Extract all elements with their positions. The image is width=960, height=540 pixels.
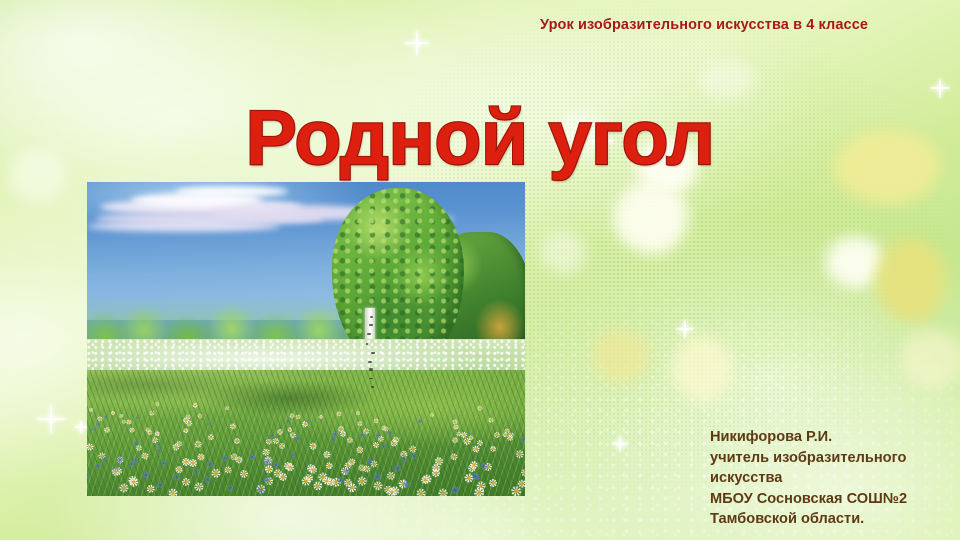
painting-cornflower — [96, 422, 100, 426]
painting-cornflower — [206, 460, 214, 468]
painting-wildflowers — [87, 182, 525, 496]
painting-daisy — [119, 483, 129, 493]
author-credits: Никифорова Р.И. учитель изобразительного… — [710, 427, 954, 530]
lesson-subtitle: Урок изобразительного искусства в 4 клас… — [540, 17, 940, 33]
painting-cornflower — [286, 419, 290, 423]
painting-bark-mark — [369, 368, 373, 370]
painting-cornflower — [387, 431, 393, 437]
painting-cornflower — [192, 468, 200, 476]
painting-cornflower — [160, 459, 168, 467]
painting-daisy — [520, 468, 525, 477]
painting-daisy — [233, 437, 241, 445]
painting-bark-mark — [368, 361, 372, 363]
painting-daisy — [338, 430, 347, 439]
bokeh-blob — [700, 60, 756, 100]
painting-daisy — [355, 446, 364, 455]
painting-daisy — [126, 418, 133, 425]
painting-daisy — [325, 462, 333, 470]
painting-daisy — [87, 443, 94, 452]
painting-cornflower — [289, 451, 296, 458]
painting-daisy — [110, 410, 115, 415]
bokeh-blob — [826, 236, 884, 288]
sparkle-icon — [676, 320, 694, 338]
painting-daisy — [416, 487, 427, 496]
painting-cornflower — [204, 476, 212, 484]
painting-bark-mark — [366, 343, 368, 345]
painting-daisy — [196, 412, 203, 419]
painting-cornflower — [101, 455, 109, 463]
painting-daisy — [313, 480, 323, 490]
painting-cornflower — [471, 473, 478, 480]
painting-daisy — [452, 424, 459, 431]
painting-cornflower — [94, 461, 103, 470]
painting-daisy — [129, 478, 139, 488]
painting-cornflower — [155, 448, 162, 455]
painting-daisy — [346, 436, 354, 444]
painting-daisy — [356, 475, 368, 487]
author-line: Тамбовской области. — [710, 509, 954, 530]
painting-daisy — [373, 418, 379, 424]
painting-daisy — [489, 446, 497, 454]
painting-daisy — [207, 433, 215, 441]
painting-cornflower — [295, 435, 301, 441]
painting-bark-mark — [370, 316, 373, 319]
painting-daisy — [193, 440, 202, 449]
painting-cornflower — [135, 416, 139, 420]
painting-daisy — [185, 419, 193, 427]
painting-cornflower — [411, 453, 417, 459]
painting-daisy — [103, 426, 111, 434]
bokeh-blob — [876, 238, 946, 322]
painting-cornflower — [272, 461, 280, 469]
painting-daisy — [210, 467, 222, 479]
painting-daisy — [356, 410, 361, 415]
painting-cornflower — [402, 481, 410, 489]
painting-daisy — [372, 480, 384, 492]
painting-cornflower — [90, 426, 95, 431]
painting-daisy — [437, 487, 449, 496]
painting-daisy — [225, 405, 230, 410]
painting-daisy — [477, 404, 484, 411]
painting-cornflower — [418, 419, 422, 423]
painting-daisy — [336, 411, 342, 417]
painting-cornflower — [401, 455, 408, 462]
painting-daisy — [141, 453, 149, 461]
painting-bark-mark — [371, 352, 374, 354]
bokeh-blob — [592, 330, 650, 382]
painting-cornflower — [450, 485, 460, 495]
painting-daisy — [192, 402, 198, 408]
painting-daisy — [489, 417, 494, 422]
painting-daisy — [265, 438, 273, 446]
painting-cornflower — [87, 472, 91, 479]
author-line: Никифорова Р.И. — [710, 427, 954, 448]
painting-daisy — [308, 441, 317, 450]
painting-daisy — [183, 427, 189, 433]
painting-daisy — [149, 410, 155, 416]
painting-cornflower — [329, 437, 337, 445]
painting-cornflower — [207, 422, 211, 426]
painting-daisy — [193, 481, 205, 493]
painting-daisy — [451, 436, 459, 444]
painting-daisy — [362, 465, 371, 474]
painting-daisy — [89, 408, 93, 412]
sparkle-icon — [612, 436, 628, 452]
painting-daisy — [419, 475, 430, 486]
painting-daisy — [372, 441, 380, 449]
painting-daisy — [276, 428, 284, 436]
painting-cornflower — [142, 471, 150, 479]
painting-daisy — [301, 476, 310, 485]
sparkle-icon — [930, 78, 950, 98]
painting-daisy — [449, 452, 459, 462]
painting-daisy — [118, 413, 123, 418]
painting-daisy — [196, 452, 206, 462]
painting-daisy — [262, 448, 269, 455]
painting-cornflower — [520, 438, 525, 443]
rural-landscape-painting — [87, 182, 525, 496]
painting-cornflower — [156, 481, 164, 489]
painting-cornflower — [394, 464, 402, 472]
painting-bark-mark — [369, 324, 373, 325]
painting-daisy — [229, 422, 237, 430]
painting-cornflower — [248, 452, 256, 460]
painting-daisy — [129, 426, 136, 433]
painting-daisy — [154, 401, 159, 406]
author-line: искусства — [710, 468, 954, 489]
sparkle-icon — [404, 30, 430, 56]
painting-daisy — [357, 421, 363, 427]
painting-cornflower — [173, 472, 183, 482]
painting-daisy — [505, 434, 513, 442]
sparkle-icon — [36, 404, 66, 434]
painting-cornflower — [226, 484, 234, 492]
painting-daisy — [493, 431, 501, 439]
painting-daisy — [279, 442, 286, 449]
painting-daisy — [318, 415, 324, 421]
painting-daisy — [168, 487, 179, 496]
painting-daisy — [147, 485, 156, 494]
painting-daisy — [322, 450, 332, 460]
painting-daisy — [277, 472, 288, 483]
bokeh-blob — [614, 182, 688, 254]
painting-daisy — [385, 470, 396, 481]
painting-daisy — [224, 467, 231, 474]
painting-daisy — [516, 450, 524, 458]
painting-daisy — [430, 412, 435, 417]
bokeh-blob — [900, 330, 960, 388]
painting-cornflower — [104, 414, 110, 420]
painting-cornflower — [381, 443, 388, 450]
painting-daisy — [431, 468, 440, 477]
painting-daisy — [182, 478, 191, 487]
presentation-slide: Урок изобразительного искусства в 4 клас… — [0, 0, 960, 540]
bokeh-blob — [672, 336, 732, 402]
painting-cornflower — [156, 441, 162, 447]
bokeh-blob — [540, 232, 586, 274]
painting-daisy — [285, 462, 294, 471]
painting-bark-mark — [369, 378, 372, 379]
page-title: Родной угол — [0, 100, 960, 177]
author-line: учитель изобразительного — [710, 448, 954, 469]
painting-cornflower — [221, 455, 228, 462]
painting-cornflower — [343, 467, 350, 474]
painting-daisy — [489, 478, 499, 488]
painting-bark-mark — [367, 333, 371, 335]
sparkle-icon — [74, 420, 88, 434]
painting-daisy — [294, 413, 301, 420]
painting-daisy — [239, 469, 250, 480]
painting-bark-mark — [371, 386, 374, 389]
author-line: МБОУ Сосновская СОШ№2 — [710, 489, 954, 510]
